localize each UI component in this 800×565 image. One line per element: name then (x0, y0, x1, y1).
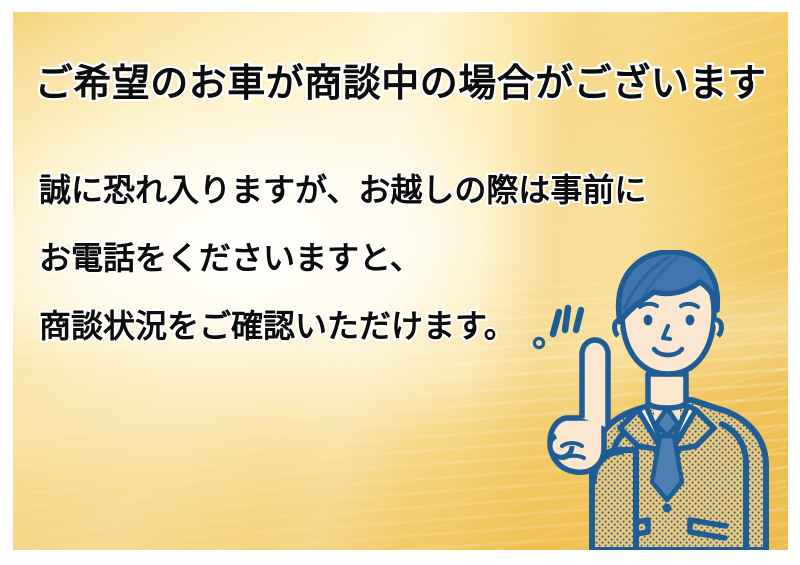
businessman-illustration (520, 250, 782, 550)
headline-text: ご希望のお車が商談中の場合がございます (13, 52, 788, 107)
body-line-1: 誠に恐れ入りますが、お越しの際は事前に (39, 174, 639, 206)
artwork-panel: ご希望のお車が商談中の場合がございます 誠に恐れ入りますが、お越しの際は事前に … (13, 12, 788, 550)
emphasis-dot (534, 338, 543, 347)
jacket-button (663, 504, 672, 513)
emphasis-marks (553, 308, 581, 334)
neck (648, 374, 686, 408)
pointing-hand (550, 340, 608, 472)
banner-root: ご希望のお車が商談中の場合がございます 誠に恐れ入りますが、お越しの際は事前に … (0, 0, 800, 565)
necktie (652, 408, 682, 500)
